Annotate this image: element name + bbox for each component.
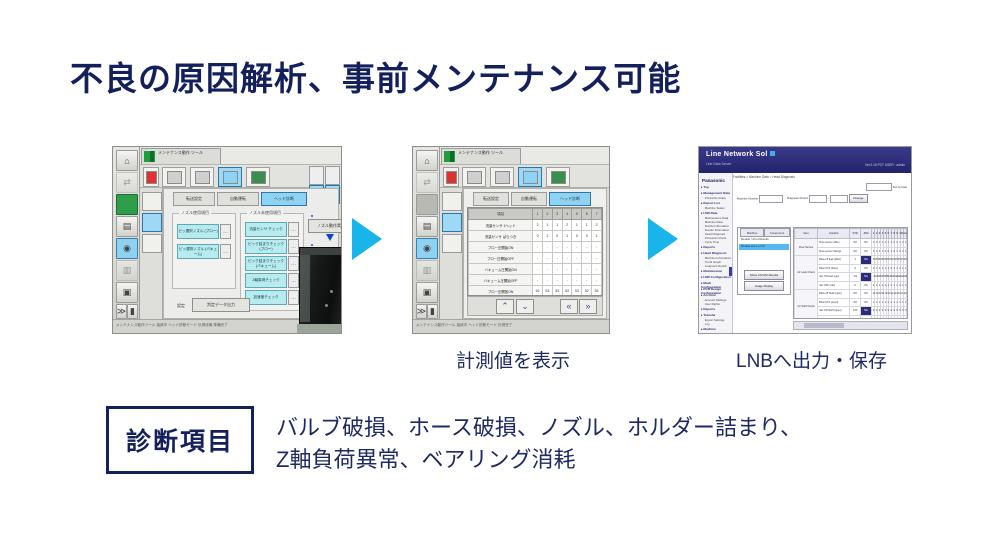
table-cell: 1 (543, 231, 553, 242)
chip-unused-4-detail[interactable]: … (288, 273, 299, 288)
step-dot-1 (311, 215, 313, 217)
row-std: OK (850, 315, 861, 319)
row-judgement: NG (861, 256, 872, 265)
hmi-mode-column (140, 188, 163, 319)
change-button[interactable]: Change (849, 194, 868, 203)
nav-group-management-data[interactable]: ▸ Management Data (701, 191, 730, 195)
user-icon[interactable] (462, 167, 486, 187)
chip-unused-5[interactable]: 加速度チェック (245, 290, 287, 305)
row-judgement: OK (861, 247, 872, 256)
screenshot-panel-measurements: ⌂ ⇄ ▤ ◉ ▥ ▣ ≫ ▮ メンテナンス動作 ツール (412, 146, 610, 334)
table-cell: - (562, 253, 572, 264)
table-cell: 1 (572, 220, 582, 231)
save-icon[interactable]: ▣ (416, 282, 438, 303)
chip-used-2[interactable]: ピッ選択ノズル (バキューム) (177, 244, 219, 259)
table-col-7: 7 (592, 209, 602, 220)
row-label: ブロー圧開始OFF (469, 253, 533, 264)
table-row[interactable]: 流量センサ 1ヘッド2112112 (469, 220, 602, 231)
chart-icon[interactable]: ▤ (416, 216, 438, 237)
module-list-tabs: Machine Component (738, 228, 790, 235)
row-judgement: NG (861, 273, 872, 282)
web-main: Sort by Date Machine Number Diagnose Per… (733, 181, 911, 333)
table-cell: - (592, 242, 602, 253)
row-label: 流量センサ 1ヘッド (469, 220, 533, 231)
diagnosis-results-table-container[interactable]: ItemContentSTDJDG123456789101112 Flow Se… (793, 227, 908, 319)
table-header-row: ItemContentSTDJDG123456789101112 (795, 229, 907, 239)
table-cell: 1 (904, 247, 907, 256)
screenshot-panel-maintenance-tool: ⌂ ⇄ ▤ ◉ ▥ ▣ ≫ ▮ メンテナンス動作 ツール (112, 146, 342, 334)
row-judgement: OK (861, 239, 872, 248)
flow-arrow-down-1-icon (326, 234, 334, 241)
run-nozzle-button[interactable]: ノズル動作実行 (308, 219, 342, 233)
machine-top (300, 248, 342, 255)
chip-unused-1-detail[interactable]: … (288, 222, 299, 237)
table-cell: - (552, 242, 562, 253)
chip-used-1[interactable]: ピッ選択ノズル (ブロー) (177, 224, 219, 239)
table-cell: - (562, 275, 572, 286)
collapse-icon[interactable]: ≫ (116, 304, 127, 319)
flow-arrow-2-icon (648, 218, 678, 260)
export-judgement-button[interactable]: 判定データ出力 (192, 298, 250, 312)
group-unused-nozzles-label: ノズル未使用項目 (247, 210, 283, 216)
app-title: Line Network Sol (706, 151, 768, 158)
trash-icon[interactable]: ▮ (127, 304, 138, 319)
diagnosis-results-table: ItemContentSTDJDG123456789101112 Flow Se… (794, 228, 907, 319)
tab-component[interactable]: Component (764, 228, 790, 237)
hmi-statusbar-2: メンテナンス動作ツール 接続中 ヘッド診断モード 計測完了 (413, 319, 609, 333)
hmi-window-tab-2[interactable]: メンテナンス動作 ツール (441, 148, 521, 164)
table-cell: - (592, 275, 602, 286)
hmi-content-2: 転送設定 自動運転 ヘッド診断 項目1234567 流量センサ 1ヘッド2112… (463, 188, 607, 319)
table-row[interactable]: バキューム圧開始ON------- (469, 264, 602, 275)
chip-unused-3[interactable]: ピック詰まりチェック (バキューム) (245, 256, 287, 271)
web-sidebar: Panasonic ▸ Top▸ Management Data· Produc… (699, 173, 733, 333)
scroll-down-icon[interactable]: ⌄ (516, 299, 534, 314)
row-group-label: Air Staff Check (795, 290, 818, 320)
row-content: Vac OFF (vac) (818, 281, 850, 290)
machine-dot-1 (330, 290, 333, 293)
nav-item-judgment-result[interactable]: · Judgment Result (703, 264, 726, 268)
nav-group-reports[interactable]: ▸ Reports (701, 307, 715, 311)
table-cell: - (552, 264, 562, 275)
hmi-toolbar-2 (440, 165, 609, 188)
app-logo: Line Network Sol (706, 151, 775, 158)
filter-row: Machine Number Diagnose Period ~ Change (737, 194, 907, 203)
row-label: バキューム圧開始ON (469, 264, 533, 275)
hmi-window-title-2: メンテナンス動作 ツール (458, 150, 503, 155)
diagnosis-items-line-1: バルブ破損、ホース破損、ノズル、ホルダー詰まり、 (276, 412, 936, 444)
tab-auto[interactable]: 自動運転 (217, 192, 259, 206)
chip-unused-1[interactable]: 流量センサ チェック (245, 222, 287, 237)
machine-number-select[interactable] (759, 195, 783, 203)
tab-machine[interactable]: Machine (740, 228, 764, 237)
transfer-icon[interactable]: ⇄ (116, 172, 138, 193)
collapse-icon[interactable]: ≫ (416, 304, 427, 319)
scrollbar-thumb[interactable] (804, 323, 844, 328)
row-content: Blow OFF (open) (818, 298, 850, 307)
measurement-table-container[interactable]: 項目1234567 流量センサ 1ヘッド2112112流量センサ ばらつき010… (467, 207, 603, 296)
caption-step2: 計測値を表示 (456, 346, 570, 373)
row-std: OK (850, 298, 861, 307)
chip-unused-3-detail[interactable]: … (288, 256, 299, 271)
scroll-up-icon[interactable]: ⌃ (496, 299, 514, 314)
table-cell: 2 (562, 220, 572, 231)
row-judgement: NG (861, 307, 872, 316)
table-col-4: 4 (562, 209, 572, 220)
row-content: Vac ON Stuff (open) (818, 307, 850, 316)
chip-unused-2-detail[interactable]: … (288, 239, 299, 254)
table-cell: 0 (904, 315, 907, 319)
row-judgement: OK (861, 290, 872, 299)
nav-group-machine[interactable]: ▸ Machine (701, 327, 716, 331)
inspect-icon[interactable]: ◉ (116, 238, 138, 259)
nav-item-user-rights[interactable]: · User Rights (703, 302, 720, 306)
table-cell: 1 (904, 281, 907, 290)
table-cell: - (562, 242, 572, 253)
row-content: Flow sensor offset (818, 239, 850, 248)
module-list-section: Module / All of Results (739, 237, 789, 241)
table-cell: - (552, 253, 562, 264)
group-used-nozzles: ノズル使用項目 ピッ選択ノズル (ブロー) … ピッ選択ノズル (バキューム) … (172, 213, 236, 289)
table-col-5: 5 (572, 209, 582, 220)
table-cell: 1 (552, 220, 562, 231)
chip-unused-4[interactable]: Z軸負荷チェック (245, 273, 287, 288)
table-cell: 2 (533, 220, 543, 231)
flow-arrow-1-icon (352, 218, 382, 260)
table-cell: - (582, 264, 592, 275)
table-cell: - (572, 275, 582, 286)
nav-item-cycle-time[interactable]: · Cycle Time (703, 240, 719, 244)
table-cell: - (533, 242, 543, 253)
table-col-jdg: JDG (861, 229, 872, 239)
table-col-item: Item (795, 229, 818, 239)
nav-group-head-diagnosis[interactable]: ▸ Head Diagnosis (701, 251, 727, 255)
hmi-window-tab[interactable]: メンテナンス動作 ツール (141, 148, 221, 164)
table-row[interactable]: ブロー圧開放ON52535353535253 (469, 286, 602, 297)
row-std: OK (850, 247, 861, 256)
table-cell: 0 (582, 231, 592, 242)
table-cell: 52 (582, 286, 592, 297)
table-cell: - (552, 275, 562, 286)
table-row[interactable]: Air Staff CheckBlow-off Stuff (open)OKOK… (795, 290, 907, 299)
header-user-info: Ver.2.10 PCT USER : admin (865, 163, 905, 167)
table-cell: 9 (904, 307, 907, 316)
table-cell: 1 (904, 239, 907, 248)
hmi-status-text: メンテナンス動作ツール 接続中 ヘッド診断モード 計測待機 準備完了 (116, 323, 228, 328)
diagnose-period-label: Diagnose Period (787, 196, 808, 200)
hmi-tabbar-2: 転送設定 自動運転 ヘッド診断 (467, 192, 603, 205)
tab-transfer[interactable]: 転送設定 (473, 192, 509, 206)
table-cell: 52 (533, 286, 543, 297)
row-content: Blow-off Stuff (open) (818, 290, 850, 299)
table-cell: 1 (904, 298, 907, 307)
brand-label: Panasonic (702, 178, 725, 183)
table-cell: 1 (904, 264, 907, 273)
table-col-6: 6 (582, 209, 592, 220)
hmi-sidebar-2: ⌂ ⇄ ▤ ◉ ▥ ▣ ≫ ▮ (413, 147, 440, 333)
app-subtitle: Line Data Server (706, 162, 731, 166)
table-nav-bar: ⌃ ⌄ « » (467, 296, 603, 316)
caption-step3: LNBへ出力・保存 (736, 346, 887, 373)
target-icon[interactable] (218, 167, 242, 187)
table-cell: 53 (552, 286, 562, 297)
row-group-label: Flow Sensor (795, 239, 818, 256)
table-col-3: 3 (552, 209, 562, 220)
table-cell: 0 (572, 231, 582, 242)
date-from-input[interactable] (809, 195, 827, 203)
page-prev-icon[interactable]: « (560, 299, 578, 314)
tab-auto[interactable]: 自動運転 (511, 192, 547, 206)
table-cell: 1 (582, 220, 592, 231)
row-judgement: OK (861, 298, 872, 307)
nav-group-transfer[interactable]: ▸ Transfer (701, 313, 716, 317)
row-std: OK (850, 239, 861, 248)
machine-photo (299, 247, 342, 334)
table-cell: - (572, 253, 582, 264)
page-next-icon[interactable]: » (579, 299, 597, 314)
row-judgement: OK (861, 264, 872, 273)
door-icon[interactable] (246, 167, 270, 187)
table-row[interactable]: Air Leak CheckBlow-off leak (blow)1NG525… (795, 256, 907, 265)
row-label: バキューム圧開始OFF (469, 275, 533, 286)
date-range-sep: ~ (828, 196, 830, 200)
nav-item-production-data[interactable]: · Production Data (703, 196, 726, 200)
table-cell: - (582, 275, 592, 286)
table-header-row: 項目1234567 (469, 209, 602, 220)
display-mode-value: Sort by Date (893, 186, 907, 189)
table-row[interactable]: 流量センサ ばらつき0101001 (469, 231, 602, 242)
date-to-input[interactable] (830, 195, 848, 203)
table-cell: - (572, 264, 582, 275)
table-cell: - (592, 264, 602, 275)
nav-group-account[interactable]: ▸ Account (701, 293, 716, 297)
disk-icon[interactable]: ▥ (116, 260, 138, 281)
measurement-table: 項目1234567 流量センサ 1ヘッド2112112流量センサ ばらつき010… (468, 208, 602, 296)
table-cell: 0 (533, 231, 543, 242)
table-col-content: Content (818, 229, 850, 239)
users-icon[interactable] (490, 167, 514, 187)
hmi-sidebar: ⌂ ⇄ ▤ ◉ ▥ ▣ ≫ ▮ (113, 147, 140, 333)
table-cell: 53 (572, 286, 582, 297)
home-icon[interactable]: ⌂ (416, 150, 438, 171)
nav-group-reports[interactable]: ▸ Reports (701, 245, 715, 249)
boards-icon[interactable] (116, 194, 138, 215)
hmi-tabbar: 転送設定 自動運転 ヘッド診断 (167, 192, 335, 205)
nav-group-report-list[interactable]: ▸ Report List (701, 201, 720, 205)
target-icon[interactable] (518, 167, 542, 187)
table-cell: - (582, 253, 592, 264)
row-std: 0 (850, 264, 861, 273)
table-cell: - (543, 264, 553, 275)
machine-side-column (300, 255, 310, 322)
hmi-toolbar (140, 165, 341, 188)
table-cell: - (533, 264, 543, 275)
chip-unused-5-detail[interactable]: … (288, 290, 299, 305)
table-col-1: 1 (533, 209, 543, 220)
group-unused-nozzles: ノズル未使用項目 流量センサ チェック … ピック詰まりチェック (ブロー) …… (240, 213, 304, 311)
table-row[interactable]: バキューム圧開始OFF------- (469, 275, 602, 286)
web-header: Line Network Sol Line Data Server Ver.2.… (699, 147, 911, 173)
inspect-icon[interactable]: ◉ (416, 238, 438, 259)
table-row[interactable]: ブロー圧開始ON------- (469, 242, 602, 253)
table-cell: 1 (543, 220, 553, 231)
tab-transfer[interactable]: 転送設定 (173, 192, 215, 206)
mode-icon-3[interactable] (442, 234, 462, 253)
screenshot-panel-lnb: Line Network Sol Line Data Server Ver.2.… (698, 146, 912, 334)
row-std: 0 (850, 281, 861, 290)
module-list-selected[interactable]: Module List 1 of 30 (739, 244, 789, 250)
app-icon (444, 151, 455, 162)
hmi-window-title: メンテナンス動作 ツール (158, 150, 203, 155)
table-cell: 53 (543, 286, 553, 297)
table-cell: 0 (552, 231, 562, 242)
table-cell: 2 (592, 220, 602, 231)
row-content: Blow-off leak (blow) (818, 256, 850, 265)
table-cell: - (582, 242, 592, 253)
row-judgement: OK (861, 315, 872, 319)
chart-icon[interactable]: ▤ (116, 216, 138, 237)
user-icon[interactable] (162, 167, 186, 187)
table-col-2: 2 (543, 209, 553, 220)
chip-used-1-detail[interactable]: … (220, 224, 231, 239)
chip-unused-2[interactable]: ピック詰まりチェック (ブロー) (245, 239, 287, 254)
row-std: 1 (850, 256, 861, 265)
nav-item-machine-status[interactable]: · Machine Status (703, 206, 725, 210)
machine-dot-2 (325, 304, 328, 307)
logo-square-icon (770, 151, 775, 156)
row-judgement: OK (861, 281, 872, 290)
table-cell: - (572, 242, 582, 253)
row-std: OK (850, 290, 861, 299)
row-content: Blow OFF (blow) (818, 264, 850, 273)
disk-icon[interactable]: ▥ (416, 260, 438, 281)
mode-icon-1[interactable] (142, 192, 162, 211)
stop-icon[interactable] (143, 167, 159, 187)
door-icon[interactable] (546, 167, 570, 187)
chip-used-2-detail[interactable]: … (220, 244, 231, 259)
judge-display-button[interactable]: Judge Display (744, 281, 784, 291)
save-icon[interactable]: ▣ (116, 282, 138, 303)
table-cell: - (533, 275, 543, 286)
nav-group-maintenance[interactable]: ▸ Maintenance (701, 269, 722, 273)
row-content: Vac OFF (open) (818, 315, 850, 319)
table-col-std: STD (850, 229, 861, 239)
app-icon (144, 151, 155, 162)
tool-right-2-icon[interactable] (325, 166, 340, 185)
row-label: 流量センサ ばらつき (469, 231, 533, 242)
table-body: Flow SensorFlow sensor offsetOKOK1211211… (795, 239, 907, 320)
table-cell: - (543, 253, 553, 264)
diagnosis-items-line-2: Z軸負荷異常、ベアリング消耗 (276, 444, 936, 476)
tab-head-diagnosis[interactable]: ヘッド診断 (261, 192, 307, 206)
module-list-panel: Machine Component Module / All of Result… (737, 227, 791, 295)
boards-icon[interactable] (416, 194, 438, 215)
users-icon[interactable] (190, 167, 214, 187)
mode-icon-3[interactable] (142, 234, 162, 253)
transfer-icon[interactable]: ⇄ (416, 172, 438, 193)
stop-icon[interactable] (443, 167, 459, 187)
tab-head-diagnosis[interactable]: ヘッド診断 (549, 192, 591, 206)
hmi-status-text-2: メンテナンス動作ツール 接続中 ヘッド診断モード 計測完了 (416, 323, 512, 328)
row-content: Vac ON leak (vac) (818, 273, 850, 282)
nav-highlight-1[interactable]: Transfer (701, 333, 730, 334)
machine-number-label: Machine Number (737, 196, 758, 200)
table-cell: 1 (592, 231, 602, 242)
nav-group-lnb-data[interactable]: ▸ LNB Data (701, 211, 717, 215)
diagnosis-items-label-box: 診断項目 (106, 406, 254, 474)
group-used-nozzles-label: ノズル使用項目 (179, 210, 211, 216)
slide-root: 不良の原因解析、事前メンテナンス可能 ⌂ ⇄ ▤ ◉ ▥ ▣ ≫ ▮ メンテナン… (0, 0, 1000, 552)
step-dot-2 (311, 244, 313, 246)
table-body: 流量センサ 1ヘッド2112112流量センサ ばらつき0101001ブロー圧開始… (469, 220, 602, 297)
nav-item-log[interactable]: · Log (703, 322, 710, 326)
page-title: 不良の原因解析、事前メンテナンス可能 (70, 52, 681, 100)
row-content: Flow sensor flatings (818, 247, 850, 256)
home-icon[interactable]: ⌂ (116, 150, 138, 171)
table-cell: - (543, 242, 553, 253)
row-label: ブロー圧開始ON (469, 242, 533, 253)
table-col-item: 項目 (469, 209, 533, 220)
nav-group-top[interactable]: ▸ Top (701, 185, 709, 189)
breadcrumb: Facilities > Machine Data > Head Diagnos… (733, 175, 795, 179)
mode-icon-1[interactable] (442, 192, 462, 211)
tool-right-1-icon[interactable] (309, 166, 324, 185)
nav-group-lnb-configuration[interactable]: ▸ LNB Configuration (701, 275, 731, 279)
hmi-window: ⌂ ⇄ ▤ ◉ ▥ ▣ ≫ ▮ メンテナンス動作 ツール (113, 147, 341, 333)
show-csv-results-button[interactable]: Show CSV/All Results (744, 270, 784, 280)
machine-base (297, 324, 342, 334)
table-cell: - (533, 253, 543, 264)
diagnosis-items-text: バルブ破損、ホース破損、ノズル、ホルダー詰まり、 Z軸負荷異常、ベアリング消耗 (276, 412, 936, 476)
footer-label: 設定 (172, 300, 190, 312)
row-group-label: Air Leak Check (795, 256, 818, 290)
display-mode-row: Sort by Date (737, 183, 907, 191)
horizontal-scrollbar[interactable] (793, 321, 908, 330)
hmi-mode-column-2 (440, 188, 463, 319)
table-cell: - (592, 253, 602, 264)
table-cell: 53 (562, 286, 572, 297)
trash-icon[interactable]: ▮ (427, 304, 438, 319)
table-row[interactable]: Flow SensorFlow sensor offsetOKOK1211211… (795, 239, 907, 248)
hmi-window-2: ⌂ ⇄ ▤ ◉ ▥ ▣ ≫ ▮ メンテナンス動作 ツール (413, 147, 609, 333)
mode-icon-2[interactable] (442, 213, 462, 232)
nav-selection-marker (729, 267, 732, 276)
row-label: ブロー圧開放ON (469, 286, 533, 297)
table-cell: - (543, 275, 553, 286)
table-cell: - (562, 264, 572, 275)
table-row[interactable]: ブロー圧開始OFF------- (469, 253, 602, 264)
row-std: 100 (850, 307, 861, 316)
mode-icon-2[interactable] (142, 213, 162, 232)
display-mode-select[interactable] (866, 183, 892, 191)
table-cell: 1 (562, 231, 572, 242)
row-std: -62 (850, 273, 861, 282)
table-cell: 53 (592, 286, 602, 297)
